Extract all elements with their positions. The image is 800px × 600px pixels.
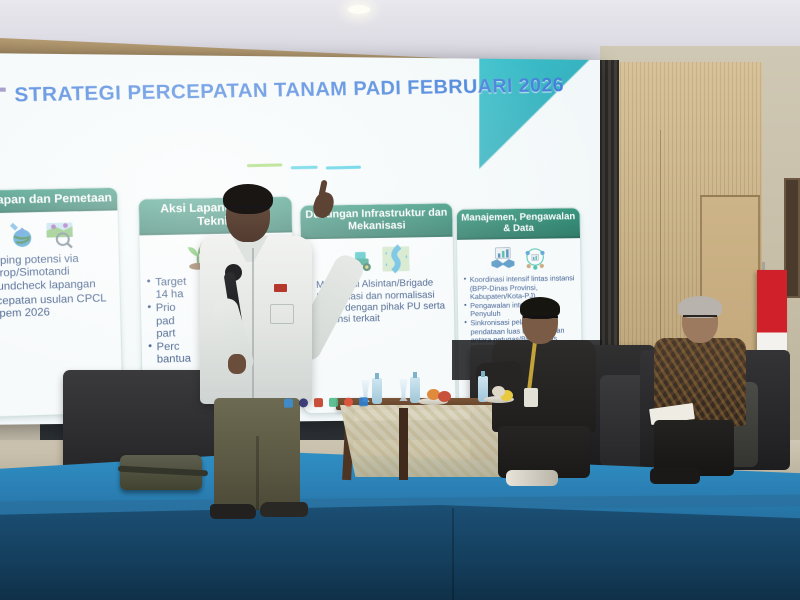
id-badge bbox=[524, 388, 538, 407]
water-bottle bbox=[372, 378, 382, 404]
fruit-red bbox=[438, 391, 451, 402]
card-icon-row bbox=[457, 239, 581, 275]
teams-icon[interactable] bbox=[284, 399, 293, 408]
eyeglasses-icon bbox=[227, 206, 270, 215]
powerpoint-icon[interactable] bbox=[314, 398, 323, 407]
card-heading: Manajemen, Pengawalan & Data bbox=[457, 208, 580, 240]
card-bullets: Mapping potensi via Siscrop/Simotandi Gr… bbox=[0, 249, 120, 326]
satellite-globe-icon bbox=[5, 218, 38, 250]
bullet-item: Percepatan usulan CPCL Banpem 2026 bbox=[0, 292, 115, 321]
logo-bar bbox=[0, 87, 6, 91]
photos-icon[interactable] bbox=[329, 398, 338, 407]
conference-room-photo: STRATEGI PERCEPATAN TANAM PADI FEBRUARI … bbox=[0, 0, 800, 600]
seated-panelist-right bbox=[648, 300, 778, 490]
table-leg bbox=[399, 408, 408, 480]
stage-seam bbox=[452, 508, 454, 600]
stage-front-face bbox=[0, 505, 800, 600]
eyeglasses-icon bbox=[523, 316, 558, 324]
app-dot-icon[interactable] bbox=[299, 398, 308, 407]
bullet-item: Koordinasi intensif lintas instansi (BPP… bbox=[464, 275, 576, 302]
card-icon-row bbox=[0, 210, 119, 253]
snack-white bbox=[492, 386, 505, 397]
eyeglasses-icon bbox=[683, 315, 717, 323]
team-network-icon bbox=[522, 245, 549, 271]
ceiling-light-icon bbox=[348, 5, 370, 14]
irrigation-river-icon bbox=[380, 243, 411, 274]
projected-taskbar[interactable] bbox=[284, 397, 368, 407]
name-badge bbox=[274, 284, 287, 292]
title-accent-dashes bbox=[247, 161, 382, 170]
explorer-icon[interactable] bbox=[359, 397, 368, 406]
map-magnifier-icon bbox=[43, 217, 76, 249]
presenter bbox=[196, 186, 351, 506]
handshake-chart-icon bbox=[490, 246, 517, 273]
slide-title: STRATEGI PERCEPATAN TANAM PADI FEBRUARI … bbox=[14, 74, 554, 107]
bullet-item: Mapping potensi via Siscrop/Simotandi bbox=[0, 252, 114, 281]
chrome-icon[interactable] bbox=[344, 398, 353, 407]
